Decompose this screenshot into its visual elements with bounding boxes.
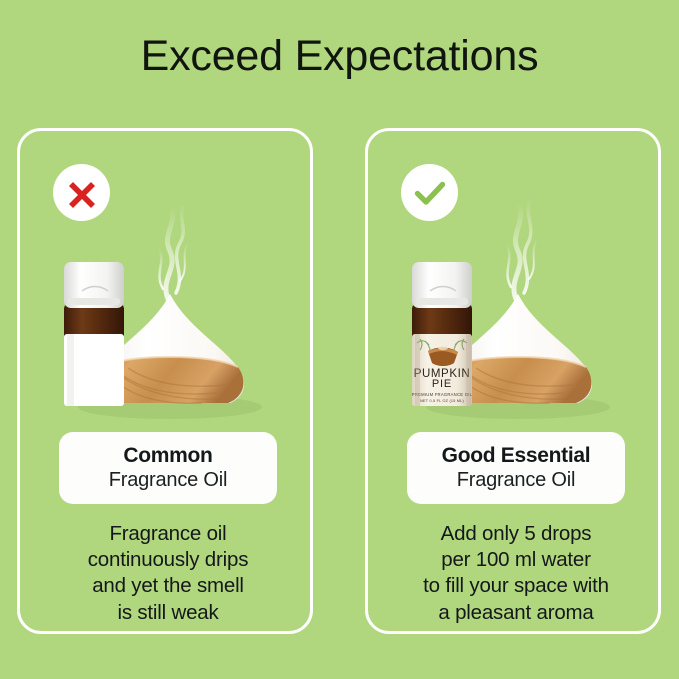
copy-line: continuously drips <box>34 547 302 573</box>
comparison-cards: Common Fragrance Oil Fragrance oil conti… <box>0 128 679 636</box>
card-copy-common: Fragrance oil continuously drips and yet… <box>34 521 302 626</box>
cross-icon <box>65 176 99 210</box>
copy-line: to fill your space with <box>382 573 650 599</box>
status-badge-negative <box>53 164 110 221</box>
comparison-card-good-essential: PUMPKIN PIE PREMIUM FRAGRANCE OIL NET 0.… <box>365 128 661 634</box>
product-name-plate-good-essential: Good Essential Fragrance Oil <box>407 432 625 504</box>
copy-line: Add only 5 drops <box>382 521 650 547</box>
card-copy-good-essential: Add only 5 drops per 100 ml water to fil… <box>382 521 650 626</box>
copy-line: is still weak <box>34 600 302 626</box>
promo-poster: Exceed Expectations <box>0 0 679 679</box>
vapor-icon <box>159 205 188 299</box>
bottle-label-line-3: PREMIUM FRAGRANCE OIL <box>412 392 473 397</box>
plate-subtitle: Fragrance Oil <box>109 468 228 493</box>
plate-title: Common <box>123 443 212 468</box>
status-badge-positive <box>401 164 458 221</box>
copy-line: a pleasant aroma <box>382 600 650 626</box>
fragrance-bottle-pumpkin-pie: PUMPKIN PIE PREMIUM FRAGRANCE OIL NET 0.… <box>412 262 473 406</box>
page-title: Exceed Expectations <box>0 33 679 80</box>
copy-line: Fragrance oil <box>34 521 302 547</box>
copy-line: and yet the smell <box>34 573 302 599</box>
bottle-label-line-2: PIE <box>432 378 452 390</box>
comparison-card-common: Common Fragrance Oil Fragrance oil conti… <box>17 128 313 634</box>
copy-line: per 100 ml water <box>382 547 650 573</box>
plate-title: Good Essential <box>442 443 591 468</box>
check-icon <box>413 176 447 210</box>
plate-subtitle: Fragrance Oil <box>457 468 576 493</box>
product-name-plate-common: Common Fragrance Oil <box>59 432 277 504</box>
bottle-label-line-4: NET 0.5 FL OZ (15 ML) <box>420 399 464 403</box>
fragrance-bottle-common <box>64 262 124 406</box>
vapor-icon <box>507 199 537 299</box>
